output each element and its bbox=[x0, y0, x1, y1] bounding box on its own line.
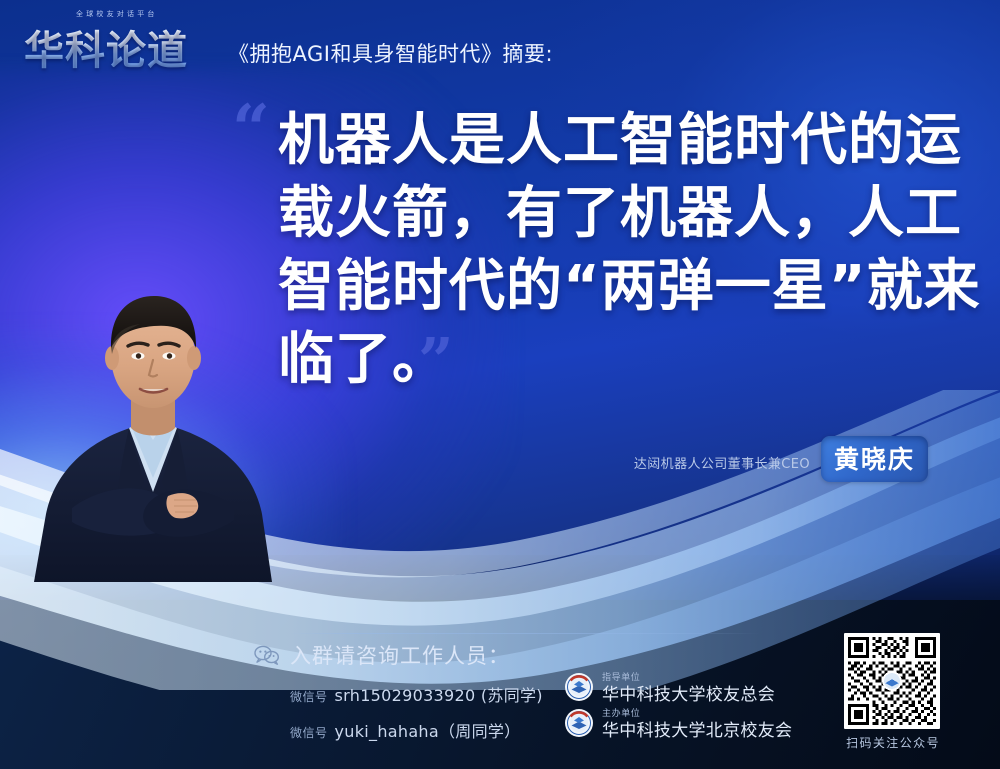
quote-text: 机器人是人工智能时代的运 载火箭，有了机器人，人工 智能时代的“两弹一星”就来 … bbox=[278, 104, 958, 396]
contact-row: 微信号srh15029033920 (苏同学) bbox=[290, 682, 543, 706]
wechat-icon bbox=[254, 645, 280, 665]
university-seal-icon bbox=[564, 708, 594, 738]
university-seal-icon bbox=[564, 672, 594, 702]
speaker-name: 黄晓庆 bbox=[834, 445, 915, 474]
quote-close-icon: ” bbox=[418, 330, 451, 392]
invite-title: 入群请咨询工作人员： bbox=[290, 640, 510, 670]
speaker-title: 达闼机器人公司董事长兼CEO bbox=[634, 453, 810, 472]
header: 全球校友对话平台 华科论道 《拥抱AGI和具身智能时代》摘要: bbox=[0, 0, 1000, 88]
contact-label: 微信号 bbox=[290, 690, 328, 704]
contact-value[interactable]: srh15029033920 (苏同学) bbox=[335, 686, 543, 705]
page-title: 《拥抱AGI和具身智能时代》摘要: bbox=[228, 38, 553, 68]
speaker-name-badge: 黄晓庆 bbox=[821, 436, 928, 482]
organization-row: 指导单位 华中科技大学校友总会 bbox=[564, 672, 804, 706]
qr-caption: 扫码关注公众号 bbox=[838, 734, 948, 751]
quote-line: 载火箭，有了机器人，人工 bbox=[278, 177, 958, 250]
quote-line: 临了。 bbox=[278, 323, 958, 396]
contact-value[interactable]: yuki_hahaha（周同学） bbox=[335, 722, 521, 741]
qr-block: 扫码关注公众号 bbox=[838, 633, 964, 753]
brand-logo[interactable]: 全球校友对话平台 华科论道 bbox=[24, 8, 220, 70]
attribution: 达闼机器人公司董事长兼CEO 黄晓庆 bbox=[600, 440, 920, 486]
contact-row: 微信号yuki_hahaha（周同学） bbox=[290, 718, 520, 742]
footer-divider bbox=[290, 633, 760, 634]
quote-line: 机器人是人工智能时代的运 bbox=[278, 104, 958, 177]
contact-label: 微信号 bbox=[290, 726, 328, 740]
qr-code-icon[interactable] bbox=[844, 633, 940, 729]
quote-line: 智能时代的“两弹一星”就来 bbox=[278, 250, 958, 323]
organization-row: 主办单位 华中科技大学北京校友会 bbox=[564, 708, 804, 742]
organization-name: 华中科技大学北京校友会 bbox=[602, 716, 792, 741]
poster-canvas: 全球校友对话平台 华科论道 《拥抱AGI和具身智能时代》摘要: “ 机器人是人工… bbox=[0, 0, 1000, 769]
organization-name: 华中科技大学校友总会 bbox=[602, 680, 775, 705]
speaker-portrait bbox=[28, 282, 278, 582]
quote-open-icon: “ bbox=[232, 96, 267, 162]
logo-wordmark: 华科论道 bbox=[24, 18, 188, 76]
